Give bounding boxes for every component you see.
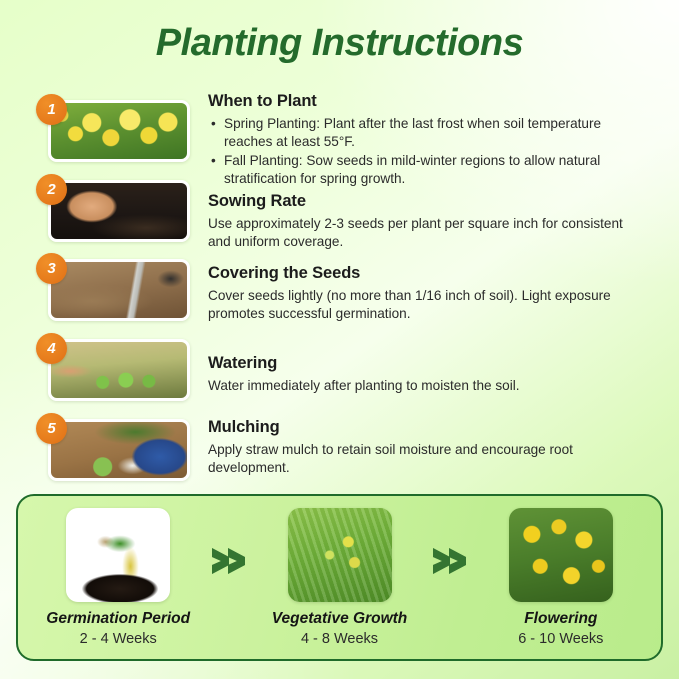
step-5-text: Mulching Apply straw mulch to retain soi… [208, 418, 638, 477]
step-2-body: Use approximately 2-3 seeds per plant pe… [208, 215, 638, 251]
list-item: Spring Planting: Plant after the last fr… [224, 115, 638, 151]
stage-label: Germination Period [34, 610, 202, 628]
step-2-photo [48, 180, 190, 242]
timeline-stage-flowering: Flowering 6 - 10 Weeks [477, 508, 645, 647]
yellow-flowers-blooming-photo [509, 508, 613, 602]
step-5-photo [48, 419, 190, 481]
step-4-heading: Watering [208, 354, 638, 373]
planting-instructions-infographic: Planting Instructions 1 When to Plant Sp… [0, 0, 679, 679]
step-2-number-badge: 2 [36, 174, 67, 205]
stage-duration: 2 - 4 Weeks [34, 631, 202, 647]
step-3-body: Cover seeds lightly (no more than 1/16 i… [208, 287, 638, 323]
stage-label: Vegetative Growth [255, 610, 423, 628]
step-1-photo [48, 100, 190, 162]
step-1-heading: When to Plant [208, 92, 638, 111]
step-5-body: Apply straw mulch to retain soil moistur… [208, 441, 638, 477]
double-chevron-right-icon [430, 544, 470, 578]
step-5-heading: Mulching [208, 418, 638, 437]
stage-label: Flowering [477, 610, 645, 628]
timeline-arrow-1 [202, 544, 255, 612]
step-4-number-badge: 4 [36, 333, 67, 364]
timeline-stage-germination: Germination Period 2 - 4 Weeks [34, 508, 202, 647]
step-3-number-badge: 3 [36, 253, 67, 284]
list-item: Fall Planting: Sow seeds in mild-winter … [224, 152, 638, 188]
germinating-seedling-photo [66, 508, 170, 602]
step-5-number-badge: 5 [36, 413, 67, 444]
flowering-thumbnail [509, 508, 613, 602]
watering-seedlings-photo [51, 342, 187, 398]
timeline-arrow-2 [424, 544, 477, 612]
vegetative-thumbnail [288, 508, 392, 602]
green-foliage-plants-photo [288, 508, 392, 602]
step-1-number-badge: 1 [36, 94, 67, 125]
hand-sowing-seeds-in-soil-photo [51, 183, 187, 239]
step-2-heading: Sowing Rate [208, 192, 638, 211]
step-4-body: Water immediately after planting to mois… [208, 377, 638, 395]
yellow-flowering-plants-photo [51, 103, 187, 159]
stage-duration: 6 - 10 Weeks [477, 631, 645, 647]
step-4-text: Watering Water immediately after plantin… [208, 354, 638, 395]
growth-timeline-panel: Germination Period 2 - 4 Weeks Vegetativ… [16, 494, 663, 661]
step-4-photo [48, 339, 190, 401]
step-1-text: When to Plant Spring Planting: Plant aft… [208, 92, 638, 189]
step-1-bullets: Spring Planting: Plant after the last fr… [208, 115, 638, 188]
germination-thumbnail [66, 508, 170, 602]
page-title: Planting Instructions [0, 22, 679, 65]
timeline-stage-vegetative: Vegetative Growth 4 - 8 Weeks [255, 508, 423, 647]
step-2-text: Sowing Rate Use approximately 2-3 seeds … [208, 192, 638, 251]
step-3-photo [48, 259, 190, 321]
step-3-text: Covering the Seeds Cover seeds lightly (… [208, 264, 638, 323]
stage-duration: 4 - 8 Weeks [255, 631, 423, 647]
double-chevron-right-icon [209, 544, 249, 578]
rake-covering-soil-photo [51, 262, 187, 318]
step-3-heading: Covering the Seeds [208, 264, 638, 283]
hands-applying-mulch-photo [51, 422, 187, 478]
